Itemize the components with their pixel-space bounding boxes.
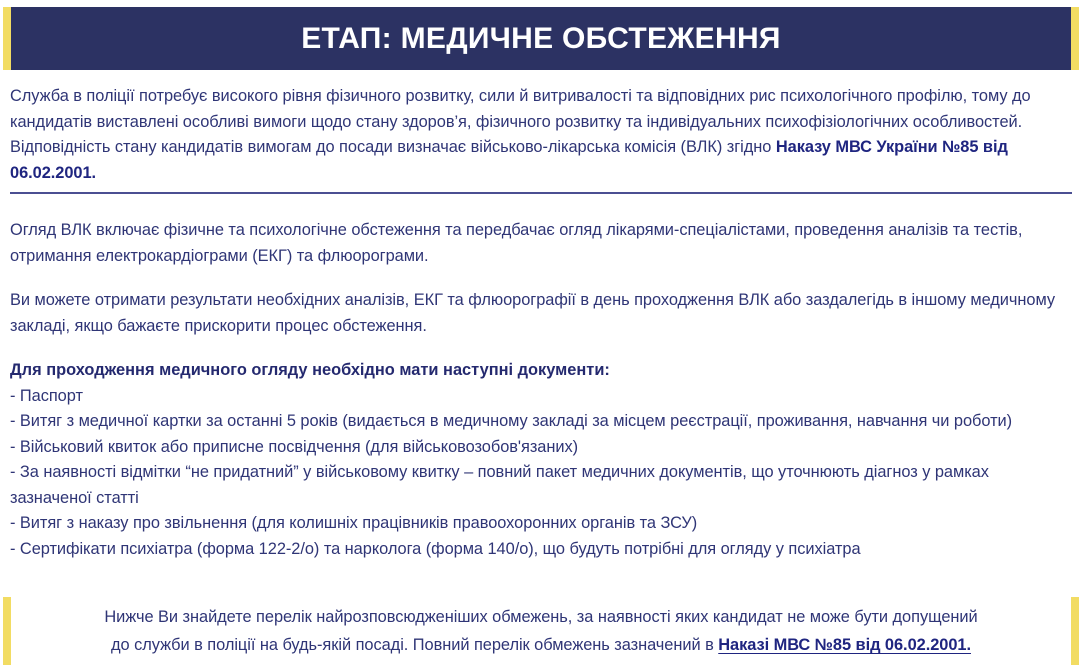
page-title: ЕТАП: МЕДИЧНЕ ОБСТЕЖЕННЯ bbox=[301, 24, 781, 54]
list-item: - Військовий квиток або приписне посвідч… bbox=[10, 435, 1072, 461]
banner-accent-bar-left bbox=[3, 7, 11, 70]
spacer bbox=[10, 339, 1072, 358]
vlk-scope-paragraph: Огляд ВЛК включає фізичне та психологічн… bbox=[10, 218, 1072, 269]
callout-body: Нижче Ви знайдете перелік найрозповсюдже… bbox=[11, 597, 1071, 665]
callout-order-reference-link[interactable]: Наказі МВС №85 від 06.02.2001. bbox=[718, 636, 971, 654]
callout-accent-bar-right bbox=[1071, 597, 1079, 665]
page-header-banner: ЕТАП: МЕДИЧНЕ ОБСТЕЖЕННЯ bbox=[0, 7, 1082, 70]
intro-paragraph: Служба в поліції потребує високого рівня… bbox=[10, 84, 1072, 135]
callout-line-2: до служби в поліції на будь-якій посаді.… bbox=[111, 631, 971, 659]
callout-line-2-text: до служби в поліції на будь-якій посаді.… bbox=[111, 636, 718, 654]
list-item: - Паспорт bbox=[10, 384, 1072, 410]
main-content: Служба в поліції потребує високого рівня… bbox=[10, 84, 1072, 562]
spacer bbox=[10, 269, 1072, 288]
list-item: - За наявності відмітки “не придатний” у… bbox=[10, 460, 1072, 511]
banner-background: ЕТАП: МЕДИЧНЕ ОБСТЕЖЕННЯ bbox=[11, 7, 1071, 70]
banner-accent-bar-right bbox=[1071, 7, 1079, 70]
vlk-results-paragraph: Ви можете отримати результати необхідних… bbox=[10, 288, 1072, 339]
documents-list: - Паспорт - Витяг з медичної картки за о… bbox=[10, 384, 1072, 563]
list-item: - Витяг з медичної картки за останні 5 р… bbox=[10, 409, 1072, 435]
callout-accent-bar-left bbox=[3, 597, 11, 665]
list-item: - Витяг з наказу про звільнення (для кол… bbox=[10, 511, 1072, 537]
list-item: - Сертифікати психіатра (форма 122-2/о) … bbox=[10, 537, 1072, 563]
bottom-callout: Нижче Ви знайдете перелік найрозповсюдже… bbox=[0, 597, 1082, 665]
callout-line-1: Нижче Ви знайдете перелік найрозповсюдже… bbox=[104, 603, 977, 631]
spacer bbox=[10, 194, 1072, 218]
vlk-authority-text: Відповідність стану кандидатів вимогам д… bbox=[10, 138, 776, 156]
vlk-authority-paragraph: Відповідність стану кандидатів вимогам д… bbox=[10, 135, 1072, 186]
documents-heading: Для проходження медичного огляду необхід… bbox=[10, 358, 1072, 384]
